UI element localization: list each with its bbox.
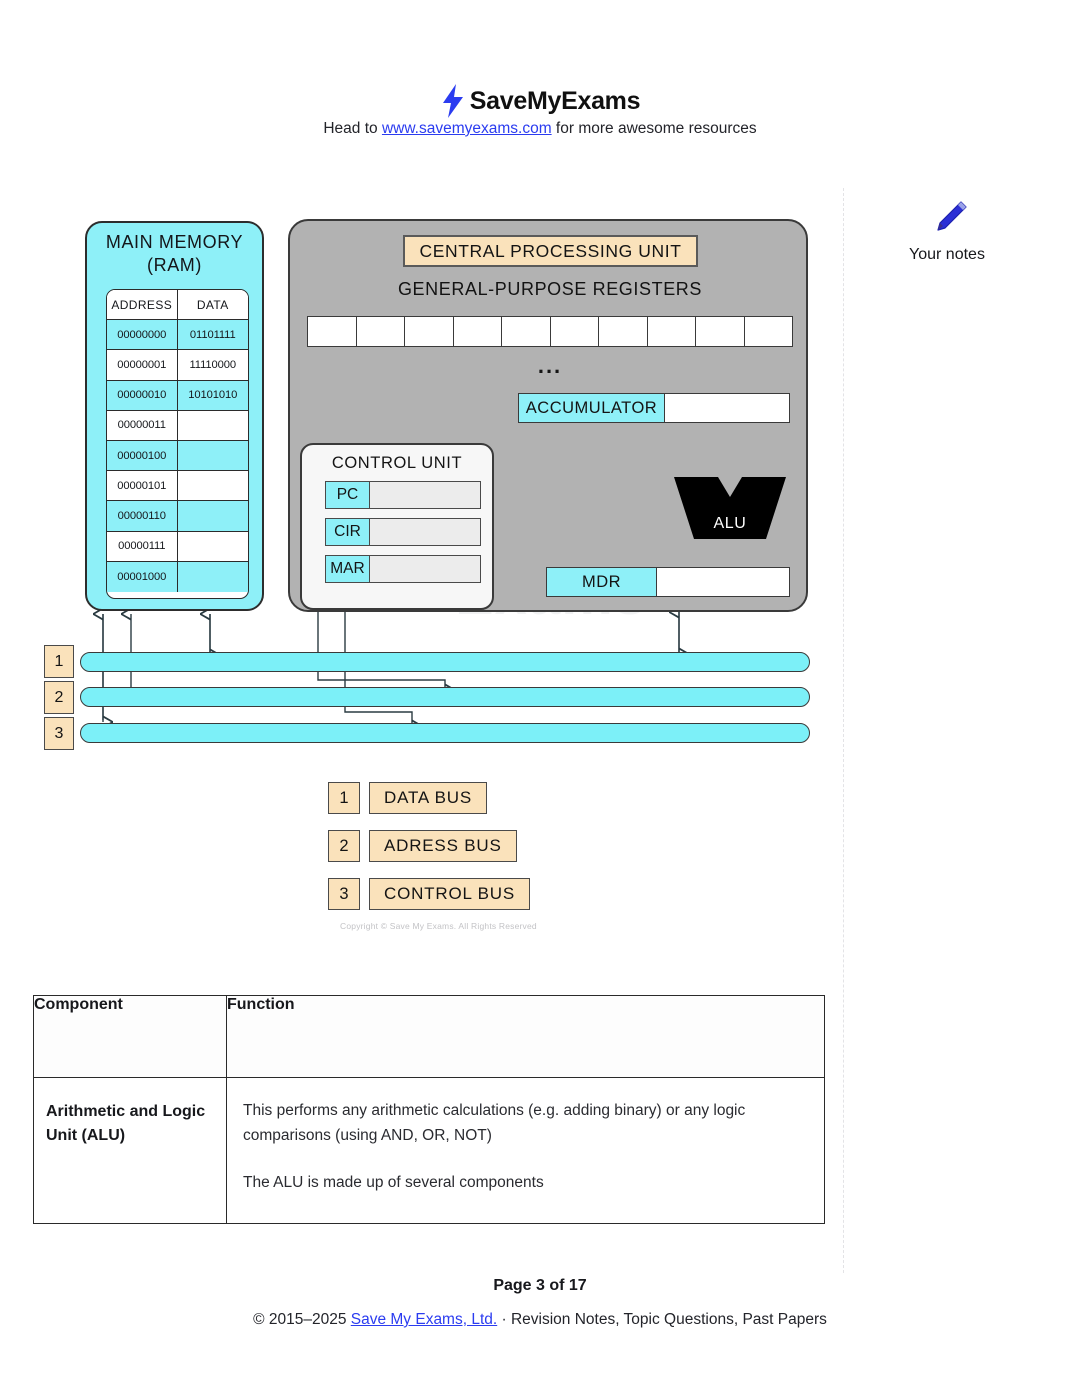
control-unit: CONTROL UNIT PC CIR MAR — [300, 443, 494, 610]
memory-row: 00000111 — [107, 532, 248, 562]
mar-register: MAR — [325, 555, 481, 583]
memory-row: 00001000 — [107, 562, 248, 592]
legend-item: 2 ADRESS BUS — [328, 830, 530, 862]
accumulator-value — [665, 394, 789, 422]
memory-data — [178, 441, 249, 470]
general-purpose-registers-title: GENERAL-PURPOSE REGISTERS — [290, 279, 810, 300]
accumulator-register: ACCUMULATOR — [518, 393, 790, 423]
mdr-label: MDR — [547, 568, 657, 596]
mar-label: MAR — [326, 556, 370, 582]
table-cell-function: This performs any arithmetic calculation… — [227, 1078, 825, 1224]
table-header-function: Function — [227, 996, 825, 1078]
main-memory-ram: MAIN MEMORY (RAM) ADDRESS DATA 00000000 … — [85, 221, 264, 611]
memory-address: 00000100 — [107, 441, 178, 470]
registers-ellipsis: ... — [290, 353, 810, 379]
table-header-row: Component Function — [34, 996, 825, 1078]
memory-table: ADDRESS DATA 00000000 01101111 00000001 … — [106, 289, 249, 599]
memory-col-data: DATA — [178, 290, 249, 319]
pc-value — [370, 482, 480, 508]
dashed-divider — [843, 188, 844, 1273]
your-notes-label: Your notes — [894, 246, 1000, 264]
memory-col-address: ADDRESS — [107, 290, 178, 319]
register-cell — [648, 317, 697, 346]
memory-data — [178, 532, 249, 561]
register-cell — [502, 317, 551, 346]
legend-label-data-bus: DATA BUS — [369, 782, 487, 814]
memory-data — [178, 471, 249, 500]
pc-label: PC — [326, 482, 370, 508]
page-number: Page 3 of 17 — [0, 1277, 1080, 1295]
memory-data: 11110000 — [178, 350, 249, 379]
register-cell — [599, 317, 648, 346]
memory-address: 00001000 — [107, 562, 178, 592]
mar-value — [370, 556, 480, 582]
memory-address: 00000010 — [107, 381, 178, 410]
footer-copyright: © 2015–2025 Save My Exams, Ltd. · Revisi… — [0, 1311, 1080, 1329]
legend-item: 1 DATA BUS — [328, 782, 530, 814]
register-cell — [357, 317, 406, 346]
function-paragraph: The ALU is made up of several components — [243, 1170, 806, 1195]
register-cell — [308, 317, 357, 346]
function-paragraph: This performs any arithmetic calculation… — [243, 1098, 806, 1148]
bus-number-1: 1 — [44, 645, 74, 678]
ram-title: MAIN MEMORY (RAM) — [87, 223, 262, 276]
control-bus-bar — [80, 723, 810, 743]
memory-row: 00000110 — [107, 501, 248, 531]
memory-address: 00000001 — [107, 350, 178, 379]
memory-row: 00000010 10101010 — [107, 381, 248, 411]
cpu-architecture-diagram: Save My Exams — [0, 0, 843, 960]
cir-register: CIR — [325, 518, 481, 546]
register-cell — [745, 317, 793, 346]
your-notes[interactable]: Your notes — [900, 196, 1000, 264]
cir-value — [370, 519, 480, 545]
bus-number-3: 3 — [44, 717, 74, 750]
table-cell-component: Arithmetic and Logic Unit (ALU) — [34, 1078, 227, 1224]
memory-data: 10101010 — [178, 381, 249, 410]
table-header-component: Component — [34, 996, 227, 1078]
pc-register: PC — [325, 481, 481, 509]
register-cell — [696, 317, 745, 346]
memory-table-header: ADDRESS DATA — [107, 290, 248, 320]
mdr-register: MDR — [546, 567, 790, 597]
memory-row: 00000101 — [107, 471, 248, 501]
pencil-icon — [900, 196, 1000, 240]
memory-data — [178, 411, 249, 440]
legend-number: 2 — [328, 830, 360, 862]
memory-data — [178, 562, 249, 592]
register-cell — [454, 317, 503, 346]
bus-number-2: 2 — [44, 681, 74, 714]
memory-row: 00000001 11110000 — [107, 350, 248, 380]
memory-row: 00000100 — [107, 441, 248, 471]
mdr-value — [657, 568, 789, 596]
component-function-table: Component Function Arithmetic and Logic … — [33, 995, 825, 1224]
legend-label-address-bus: ADRESS BUS — [369, 830, 517, 862]
address-bus-bar — [80, 687, 810, 707]
memory-address: 00000011 — [107, 411, 178, 440]
memory-address: 00000110 — [107, 501, 178, 530]
save-my-exams-ltd-link[interactable]: Save My Exams, Ltd. — [351, 1311, 497, 1328]
memory-address: 00000111 — [107, 532, 178, 561]
memory-row: 00000011 — [107, 411, 248, 441]
alu-label: ALU — [674, 515, 786, 533]
cir-label: CIR — [326, 519, 370, 545]
legend-label-control-bus: CONTROL BUS — [369, 878, 530, 910]
memory-data: 01101111 — [178, 320, 249, 349]
legend-number: 1 — [328, 782, 360, 814]
legend-item: 3 CONTROL BUS — [328, 878, 530, 910]
memory-row: 00000000 01101111 — [107, 320, 248, 350]
cpu-title: CENTRAL PROCESSING UNIT — [403, 235, 698, 267]
page: SaveMyExams Head to www.savemyexams.com … — [0, 0, 1080, 1397]
register-cell — [405, 317, 454, 346]
copyright-suffix: · Revision Notes, Topic Questions, Past … — [497, 1311, 827, 1328]
copyright-prefix: © 2015–2025 — [253, 1311, 351, 1328]
register-cell — [551, 317, 600, 346]
memory-address: 00000000 — [107, 320, 178, 349]
control-unit-title: CONTROL UNIT — [302, 445, 492, 473]
memory-data — [178, 501, 249, 530]
data-bus-bar — [80, 652, 810, 672]
accumulator-label: ACCUMULATOR — [519, 394, 665, 422]
memory-address: 00000101 — [107, 471, 178, 500]
bus-legend: 1 DATA BUS 2 ADRESS BUS 3 CONTROL BUS — [328, 782, 530, 926]
legend-number: 3 — [328, 878, 360, 910]
diagram-copyright: Copyright © Save My Exams. All Rights Re… — [340, 921, 537, 931]
general-purpose-registers — [307, 316, 793, 347]
table-row: Arithmetic and Logic Unit (ALU) This per… — [34, 1078, 825, 1224]
